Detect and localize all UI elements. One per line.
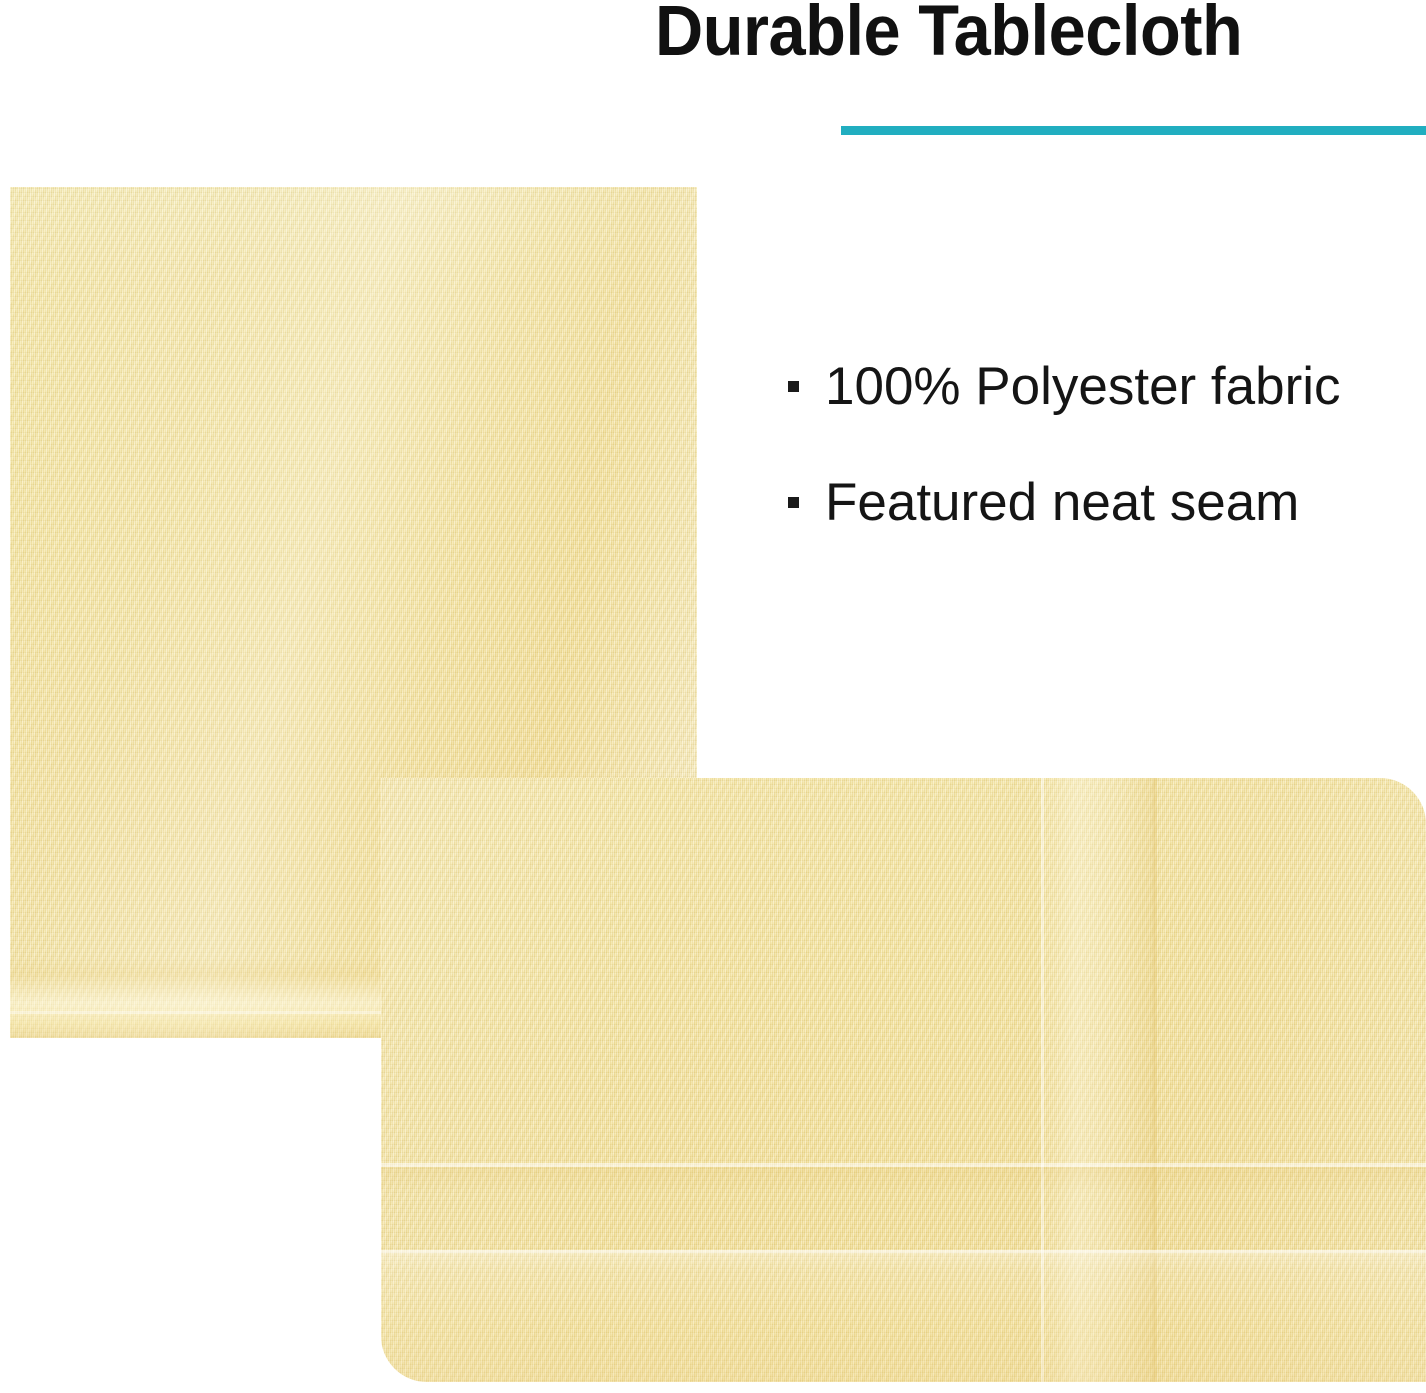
horizontal-seam-shadow xyxy=(381,1167,1426,1193)
vertical-fold-line xyxy=(1153,778,1157,1382)
feature-item-label: Featured neat seam xyxy=(825,476,1299,529)
feature-item: Featured neat seam xyxy=(788,476,1299,529)
bottom-hem-fold-line xyxy=(381,1250,1426,1253)
flat-tablecloth-image xyxy=(381,778,1426,1382)
square-bullet-icon xyxy=(788,497,799,508)
fabric-diagonal-texture xyxy=(381,778,1426,1382)
fabric-weave-texture xyxy=(381,778,1426,1382)
title-accent-rule xyxy=(841,126,1426,135)
page-title: Durable Tablecloth xyxy=(655,0,1384,67)
square-bullet-icon xyxy=(788,381,799,392)
bottom-hem-band xyxy=(381,1250,1426,1382)
product-feature-banner: Durable Tablecloth 100% Polyester fabric… xyxy=(0,0,1426,1393)
feature-item: 100% Polyester fabric xyxy=(788,360,1341,413)
vertical-seam-line xyxy=(1041,778,1044,1382)
feature-item-label: 100% Polyester fabric xyxy=(825,360,1341,413)
vertical-hem-shading xyxy=(1037,778,1155,1382)
horizontal-seam-line xyxy=(381,1163,1426,1167)
